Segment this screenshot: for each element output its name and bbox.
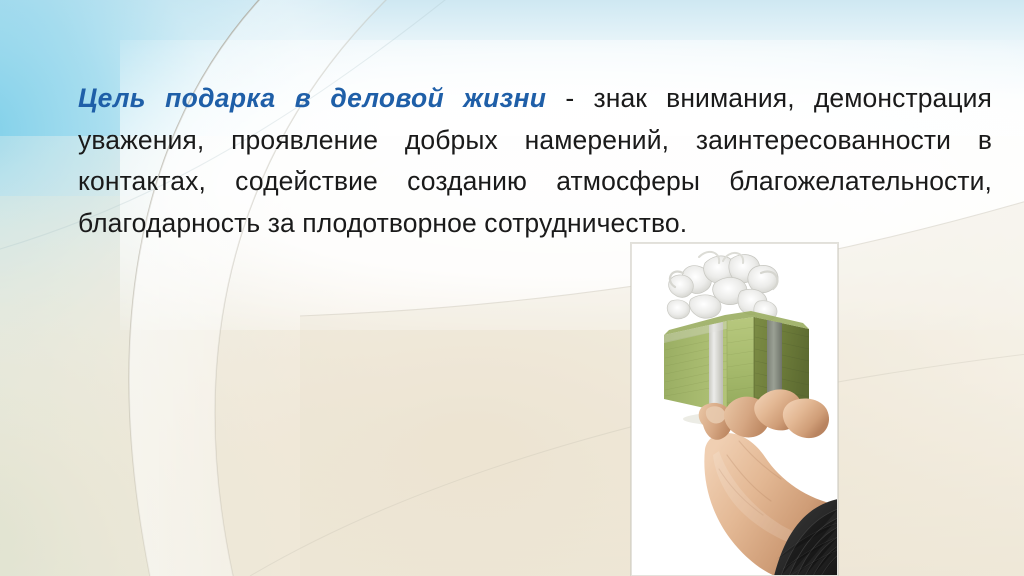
- slide-paragraph: Цель подарка в деловой жизни - знак вним…: [78, 78, 992, 244]
- slide-body-text: Цель подарка в деловой жизни - знак вним…: [78, 78, 992, 244]
- slide-canvas: Цель подарка в деловой жизни - знак вним…: [0, 0, 1024, 576]
- slide-lead-phrase: Цель подарка в деловой жизни: [78, 83, 546, 113]
- gift-photo: [631, 243, 838, 576]
